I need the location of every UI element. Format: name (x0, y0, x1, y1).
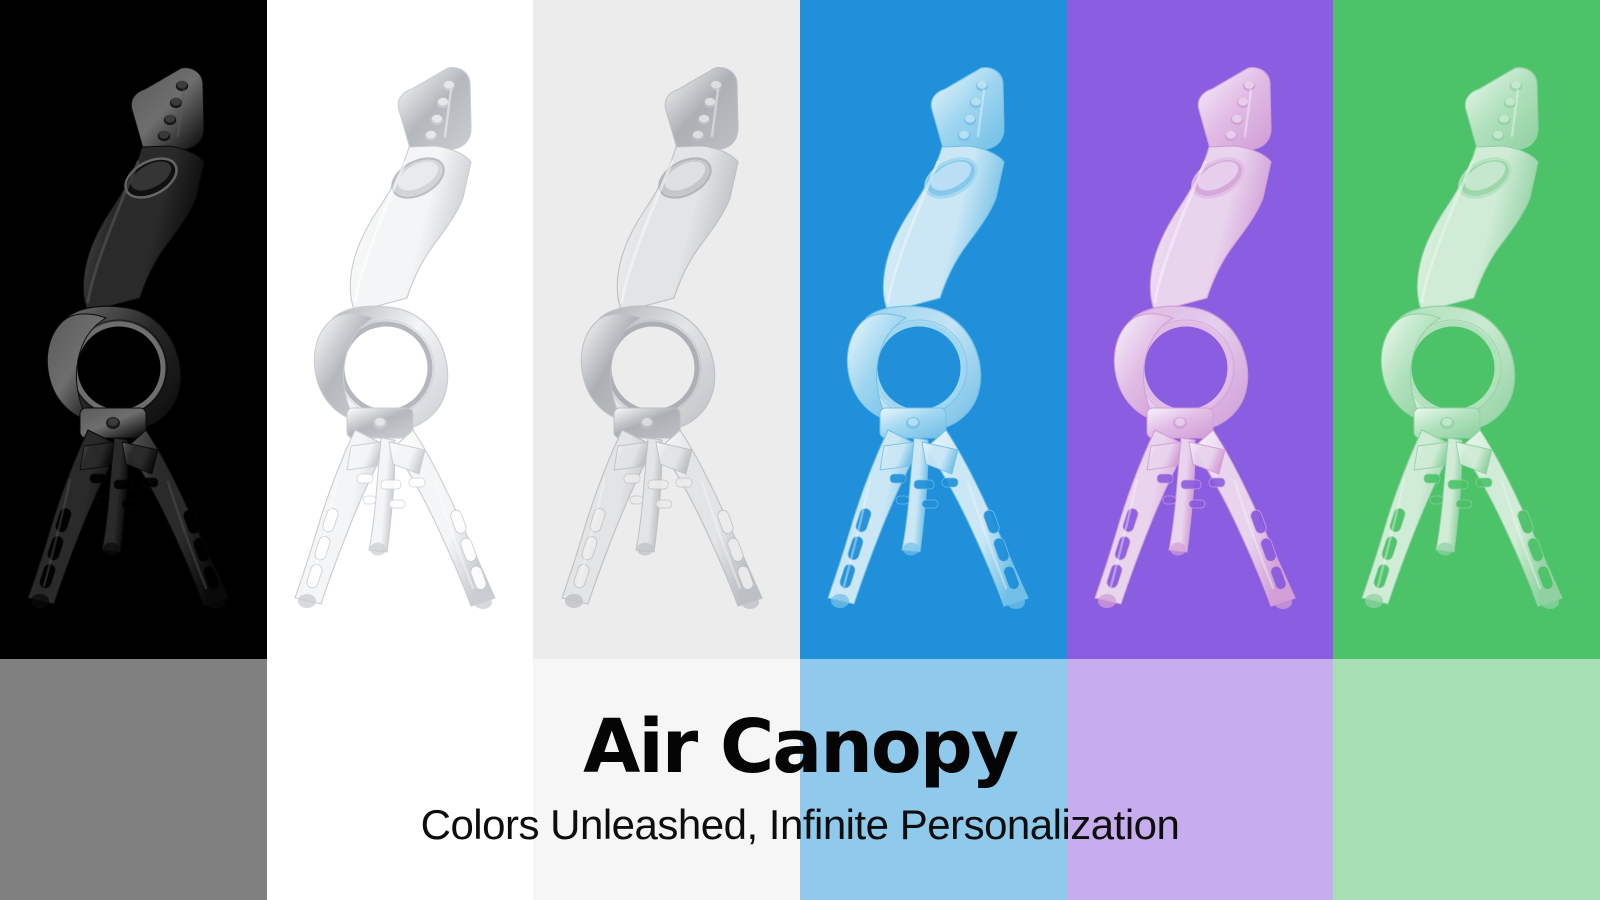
panel-bottom-fill-white (267, 659, 534, 900)
product-image-green[interactable] (1352, 50, 1582, 610)
color-panel-white[interactable] (267, 0, 534, 900)
panel-bottom-fill-green (1333, 659, 1600, 900)
product-image-wrap (1067, 0, 1334, 659)
color-panel-black[interactable] (0, 0, 267, 900)
color-panel-strip (0, 0, 1600, 900)
product-image-wrap (267, 0, 534, 659)
product-color-banner: Air Canopy Colors Unleashed, Infinite Pe… (0, 0, 1600, 900)
product-image-silver[interactable] (552, 50, 782, 610)
color-panel-silver[interactable] (533, 0, 800, 900)
panel-bottom-fill-black (0, 659, 267, 900)
product-image-white[interactable] (285, 50, 515, 610)
color-panel-purple[interactable] (1067, 0, 1334, 900)
panel-bottom-fill-purple (1067, 659, 1334, 900)
product-image-wrap (800, 0, 1067, 659)
color-panel-green[interactable] (1333, 0, 1600, 900)
product-image-black[interactable] (18, 50, 248, 610)
product-image-wrap (0, 0, 267, 659)
product-image-blue[interactable] (818, 50, 1048, 610)
product-image-wrap (1333, 0, 1600, 659)
product-image-wrap (533, 0, 800, 659)
panel-bottom-fill-silver (533, 659, 800, 900)
color-panel-blue[interactable] (800, 0, 1067, 900)
panel-bottom-fill-blue (800, 659, 1067, 900)
product-image-purple[interactable] (1085, 50, 1315, 610)
